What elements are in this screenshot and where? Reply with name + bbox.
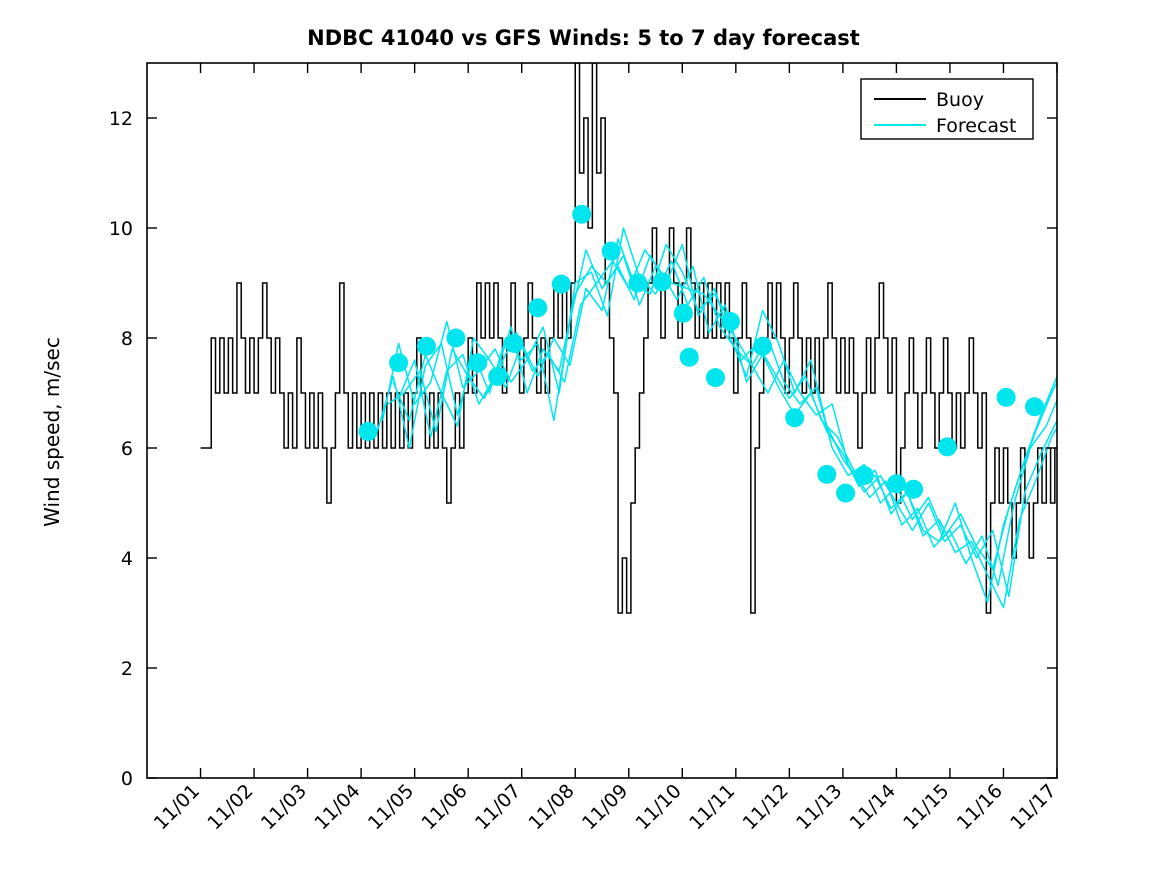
y-tick-label: 2 (121, 658, 133, 680)
forecast-marker (468, 353, 487, 372)
forecast-marker (674, 304, 693, 323)
x-tick-label: 11/01 (150, 780, 204, 834)
legend-label-forecast: Forecast (936, 115, 1016, 137)
forecast-marker (721, 312, 740, 331)
x-tick-label: 11/05 (364, 780, 418, 834)
legend-label-buoy: Buoy (936, 89, 984, 111)
y-tick-label: 10 (109, 218, 133, 240)
forecast-marker (602, 242, 621, 261)
x-tick-label: 11/09 (578, 780, 632, 834)
y-tick-label: 12 (109, 108, 133, 130)
forecast-marker (505, 334, 524, 353)
forecast-marker (938, 437, 957, 456)
x-tick-label: 11/15 (899, 780, 953, 834)
y-tick-label: 0 (121, 768, 133, 790)
forecast-marker (446, 329, 465, 348)
x-tick-label: 11/03 (257, 780, 311, 834)
forecast-marker (528, 298, 547, 317)
forecast-marker (652, 272, 671, 291)
forecast-marker (836, 484, 855, 503)
forecast-marker (389, 353, 408, 372)
figure-container: NDBC 41040 vs GFS Winds: 5 to 7 day fore… (0, 0, 1167, 875)
x-tick-label: 11/07 (471, 780, 525, 834)
x-tick-label: 11/06 (417, 780, 471, 834)
page-title: NDBC 41040 vs GFS Winds: 5 to 7 day fore… (0, 26, 1167, 50)
forecast-marker (680, 348, 699, 367)
forecast-marker (417, 337, 436, 356)
chart-svg: 024681012 11/0111/0211/0311/0411/0511/06… (0, 0, 1167, 875)
x-tick-label: 11/13 (792, 780, 846, 834)
x-tick-label: 11/12 (739, 780, 793, 834)
x-tick-label: 11/10 (632, 780, 686, 834)
y-tick-label: 8 (121, 328, 133, 350)
x-tick-label: 11/14 (846, 780, 900, 834)
x-tick-label: 11/08 (524, 780, 578, 834)
forecast-marker (887, 474, 906, 493)
forecast-marker (785, 408, 804, 427)
legend: Buoy Forecast (861, 79, 1033, 139)
forecast-marker (359, 422, 378, 441)
forecast-marker (552, 275, 571, 294)
x-tick-label: 11/04 (310, 780, 364, 834)
y-tick-label: 4 (121, 548, 133, 570)
y-tick-label: 6 (121, 438, 133, 460)
x-tick-label: 11/11 (685, 780, 739, 834)
forecast-marker (488, 367, 507, 386)
forecast-marker (753, 337, 772, 356)
forecast-marker (1025, 397, 1044, 416)
forecast-marker (572, 205, 591, 224)
y-axis-label: Wind speed, m/sec (40, 112, 64, 752)
forecast-marker (904, 480, 923, 499)
x-tick-label: 11/02 (203, 780, 257, 834)
forecast-marker (855, 466, 874, 485)
forecast-marker (817, 465, 836, 484)
forecast-marker (628, 274, 647, 293)
x-tick-label: 11/17 (1006, 780, 1060, 834)
x-tick-label: 11/16 (953, 780, 1007, 834)
forecast-marker (997, 388, 1016, 407)
forecast-marker (706, 368, 725, 387)
